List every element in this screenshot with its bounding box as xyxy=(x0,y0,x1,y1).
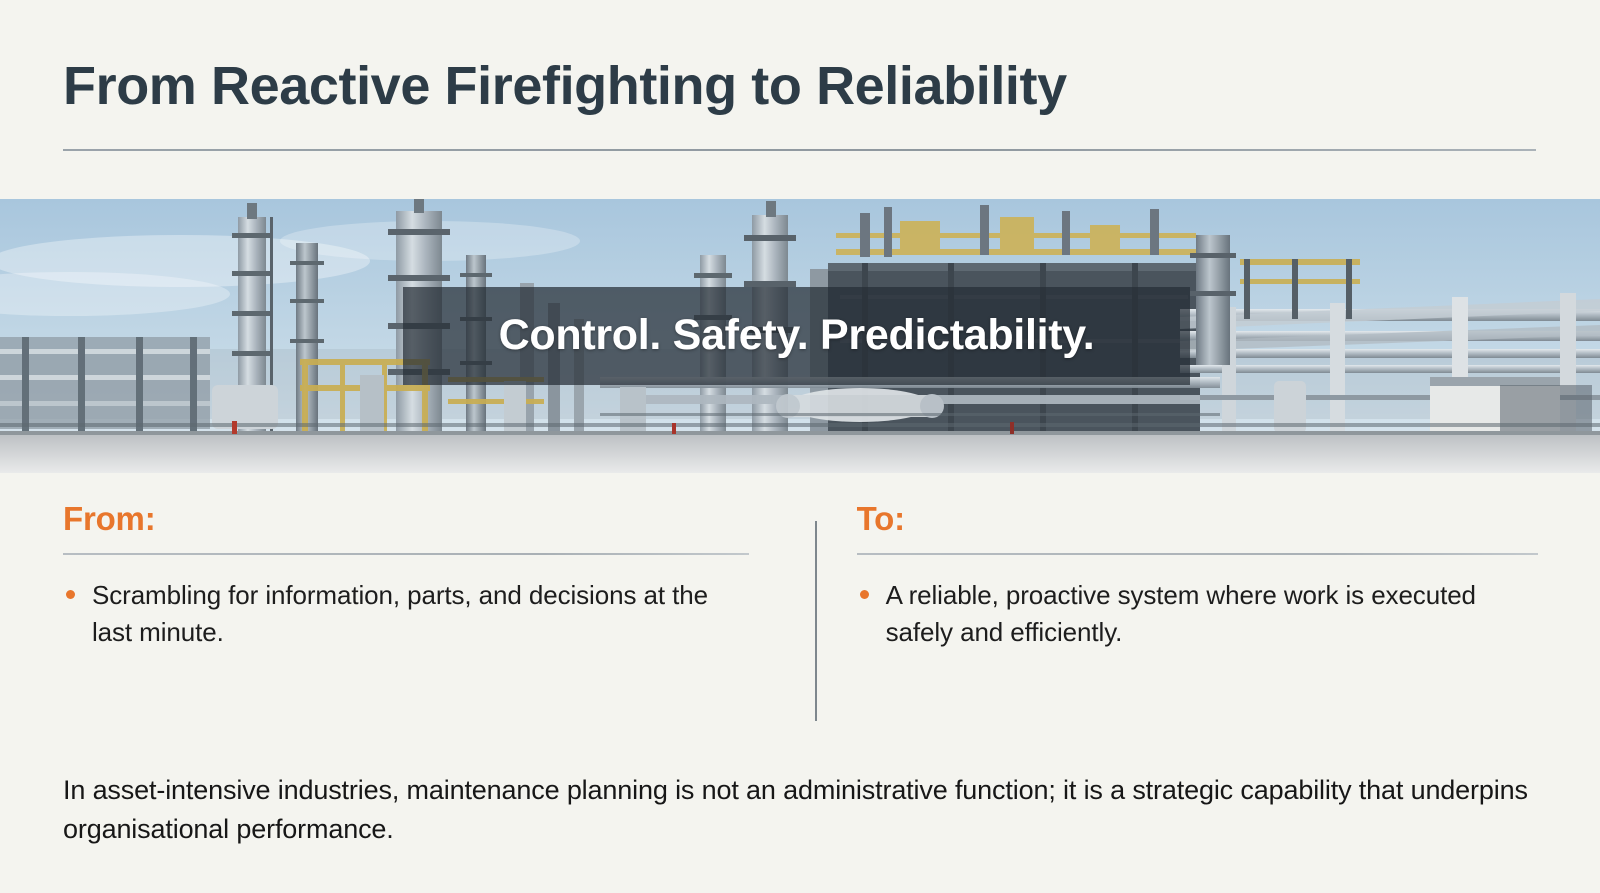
list-item-text: A reliable, proactive system where work … xyxy=(886,580,1476,647)
slide-root: From Reactive Firefighting to Reliabilit… xyxy=(0,0,1600,893)
column-to-bullets: A reliable, proactive system where work … xyxy=(857,577,1538,651)
vertical-divider xyxy=(815,521,817,721)
list-item: A reliable, proactive system where work … xyxy=(857,577,1538,651)
list-item-text: Scrambling for information, parts, and d… xyxy=(92,580,708,647)
column-to: To: A reliable, proactive system where w… xyxy=(857,501,1538,733)
hero-overlay-banner: Control. Safety. Predictability. xyxy=(403,287,1190,385)
title-divider xyxy=(63,149,1536,151)
column-gap xyxy=(749,501,856,733)
title-block: From Reactive Firefighting to Reliabilit… xyxy=(0,0,1600,151)
column-to-divider xyxy=(857,553,1538,555)
list-item: Scrambling for information, parts, and d… xyxy=(63,577,749,651)
column-from-heading: From: xyxy=(63,501,749,537)
column-from-divider xyxy=(63,553,749,555)
bullet-dot-icon xyxy=(860,590,869,599)
hero-overlay-text: Control. Safety. Predictability. xyxy=(499,311,1095,360)
hero-image: Control. Safety. Predictability. xyxy=(0,199,1600,473)
comparison-columns: From: Scrambling for information, parts,… xyxy=(0,501,1600,733)
bullet-dot-icon xyxy=(66,590,75,599)
column-to-heading: To: xyxy=(857,501,1538,537)
footer-note: In asset-intensive industries, maintenan… xyxy=(0,771,1600,849)
column-from: From: Scrambling for information, parts,… xyxy=(63,501,749,733)
column-from-bullets: Scrambling for information, parts, and d… xyxy=(63,577,749,651)
page-title: From Reactive Firefighting to Reliabilit… xyxy=(63,58,1538,115)
